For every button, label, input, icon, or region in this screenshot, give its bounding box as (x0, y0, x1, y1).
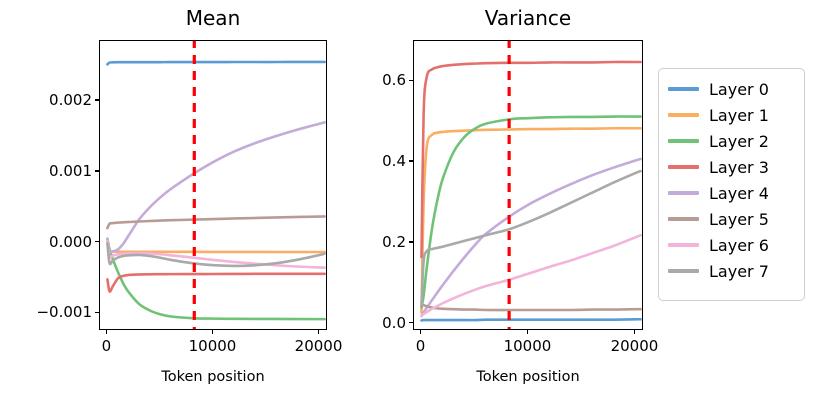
mean-ytick-mark (95, 170, 99, 172)
legend-swatch-icon (668, 165, 699, 168)
series-line-layer-6 (421, 235, 640, 315)
mean-plot-frame (99, 40, 327, 330)
legend-swatch-icon (668, 139, 699, 142)
variance-ytick-label: 0.0 (308, 314, 406, 332)
variance-ytick-label: 0.6 (308, 71, 406, 89)
legend-swatch-icon (668, 243, 699, 246)
series-line-layer-5 (421, 305, 640, 310)
variance-ytick-mark (409, 80, 413, 82)
series-line-layer-7 (107, 243, 324, 266)
variance-xtick-mark (634, 330, 636, 334)
variance-ytick-mark (409, 322, 413, 324)
mean-xtick-mark (212, 330, 214, 334)
variance-xtick-mark (527, 330, 529, 334)
series-line-layer-4 (421, 159, 640, 316)
legend-item-label: Layer 2 (709, 132, 769, 151)
mean-xtick-mark (106, 330, 108, 334)
mean-xtick-label: 0 (102, 337, 112, 355)
legend-item-label: Layer 5 (709, 210, 769, 229)
mean-ytick-mark (95, 241, 99, 243)
variance-ytick-label: 0.2 (308, 233, 406, 251)
legend-item-layer-4[interactable]: Layer 4 (668, 180, 795, 206)
mean-ytick-label: 0.001 (0, 162, 92, 180)
legend-item-label: Layer 7 (709, 262, 769, 281)
figure-canvas: Mean Token position Variance Token posit… (0, 0, 813, 402)
legend-item-layer-7[interactable]: Layer 7 (668, 258, 795, 284)
variance-xtick-label: 10000 (504, 337, 552, 355)
series-line-layer-3 (421, 62, 640, 257)
variance-xtick-label: 0 (416, 337, 426, 355)
variance-ytick-mark (409, 160, 413, 162)
legend-item-layer-2[interactable]: Layer 2 (668, 128, 795, 154)
series-line-layer-7 (421, 171, 640, 305)
legend-item-layer-3[interactable]: Layer 3 (668, 154, 795, 180)
legend-item-label: Layer 1 (709, 106, 769, 125)
series-line-layer-3 (107, 274, 324, 292)
mean-plot-axes (99, 40, 327, 330)
legend-swatch-icon (668, 191, 699, 194)
mean-xtick-label: 10000 (189, 337, 237, 355)
variance-xtick-label: 20000 (611, 337, 659, 355)
mean-plot-xlabel: Token position (161, 369, 264, 385)
mean-ytick-mark (95, 99, 99, 101)
legend-item-layer-0[interactable]: Layer 0 (668, 76, 795, 102)
series-line-layer-2 (421, 116, 640, 307)
legend-item-label: Layer 3 (709, 158, 769, 177)
legend-swatch-icon (668, 87, 699, 90)
mean-xtick-label: 20000 (295, 337, 343, 355)
series-line-layer-1 (107, 240, 324, 252)
mean-ytick-label: 0.002 (0, 91, 92, 109)
legend-item-label: Layer 0 (709, 80, 769, 99)
variance-xtick-mark (420, 330, 422, 334)
variance-ytick-mark (409, 241, 413, 243)
legend-swatch-icon (668, 269, 699, 272)
variance-plot-axes (413, 40, 643, 330)
legend-item-layer-5[interactable]: Layer 5 (668, 206, 795, 232)
legend-item-layer-6[interactable]: Layer 6 (668, 232, 795, 258)
legend: Layer 0Layer 1Layer 2Layer 3Layer 4Layer… (658, 68, 805, 301)
variance-plot-frame (413, 40, 643, 330)
legend-swatch-icon (668, 217, 699, 220)
mean-plot-lines (100, 41, 327, 330)
mean-ytick-label: 0.000 (0, 233, 92, 251)
series-line-layer-0 (107, 62, 324, 64)
mean-ytick-label: −0.001 (0, 303, 92, 321)
variance-plot-xlabel: Token position (476, 369, 579, 385)
legend-item-label: Layer 6 (709, 236, 769, 255)
legend-swatch-icon (668, 113, 699, 116)
legend-item-label: Layer 4 (709, 184, 769, 203)
variance-plot-lines (414, 41, 643, 330)
mean-plot-title: Mean (186, 6, 241, 30)
variance-plot-title: Variance (485, 6, 571, 30)
legend-item-layer-1[interactable]: Layer 1 (668, 102, 795, 128)
variance-ytick-label: 0.4 (308, 152, 406, 170)
series-line-layer-4 (107, 122, 324, 252)
series-line-layer-0 (421, 319, 640, 320)
mean-ytick-mark (95, 312, 99, 314)
